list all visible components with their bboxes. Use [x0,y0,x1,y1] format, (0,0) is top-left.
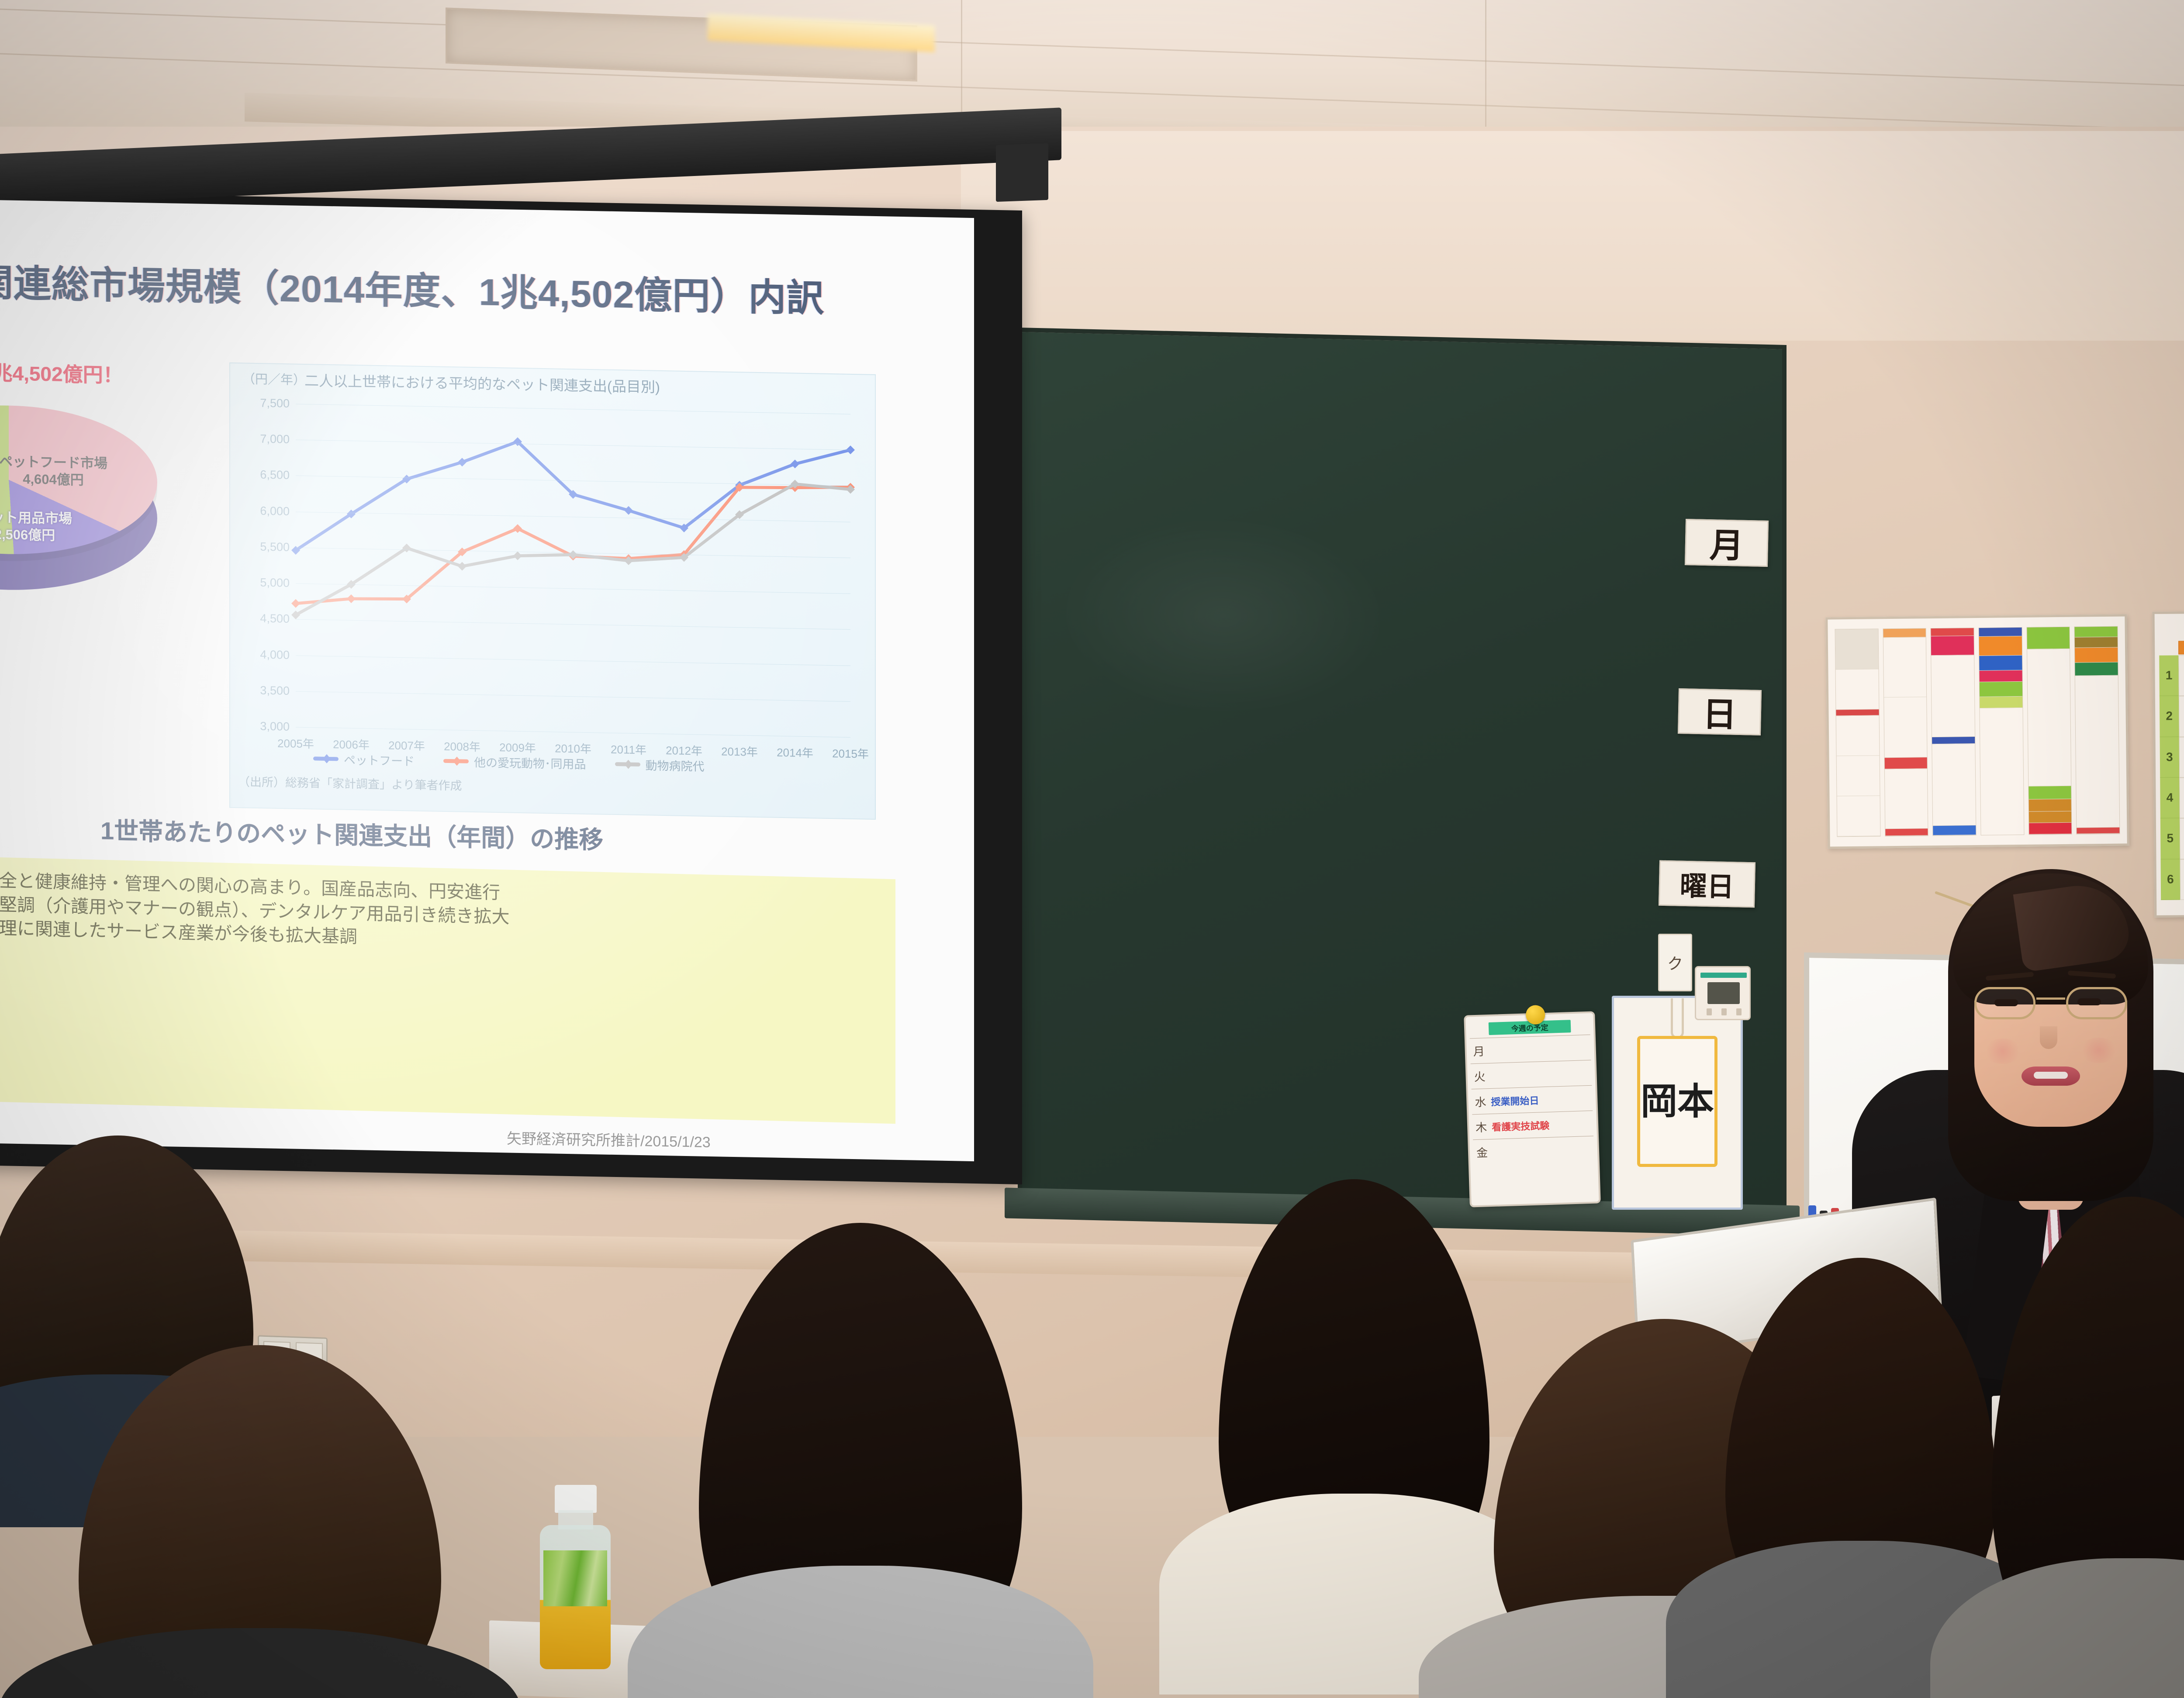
chart-y-tick-label: 6,500 [260,468,290,482]
week-day-label: 月 [1470,1042,1488,1059]
chart-y-unit: （円／年） [242,369,306,388]
chart-y-tick-label: 6,000 [260,504,290,518]
slide-title: ット関連総市場規模（2014年度、1兆4,502億円）内訳 [0,251,939,324]
weekly-schedule-board[interactable]: 今週の予定 月 火 水 授業開始日 木 看護実技試験 金 [1464,1011,1601,1207]
chart-legend-item: ペットフード [313,750,415,769]
chart-x-tick-label: 2008年 [444,738,480,755]
week-row: 木 看護実技試験 [1472,1111,1593,1140]
legend-swatch-icon [615,762,640,766]
legend-label: ペットフード [344,751,415,769]
timetable-title: ☆2Aカリ [2159,625,2184,638]
chart-data-point [458,562,467,570]
pie-slice-name: ペットフード市場 [0,454,107,471]
audience-head [699,1223,1022,1698]
timetable-day-header: 月 [2178,641,2184,655]
period-label: 4 [2160,777,2180,818]
day-card-day: 日 [1678,688,1762,735]
teacher-nameplate: 岡本 [1637,1036,1717,1167]
hook-tag: ク [1658,934,1692,991]
chart-data-point [569,550,577,559]
week-day-label: 水 [1472,1093,1489,1110]
glasses-bridge [2036,997,2065,1000]
projector-screen: ット関連総市場規模（2014年度、1兆4,502億円）内訳 市場規模 1兆4,5… [0,200,974,1161]
chart-data-point [791,459,799,468]
presentation-slide: ット関連総市場規模（2014年度、1兆4,502億円）内訳 市場規模 1兆4,5… [0,200,974,1161]
week-day-label: 木 [1472,1118,1490,1135]
presenter-cheek-right [2079,1038,2118,1063]
chart-series-svg [296,404,850,737]
chart-plot-area: 7,5007,0006,5006,0005,5005,0004,5004,000… [296,404,850,737]
presenter-teeth [2034,1072,2068,1079]
timetable-header-row: 月 火 [2159,640,2184,655]
day-card-label: 曜日 [1679,864,1735,904]
audience-head [1725,1258,1996,1651]
panel-status-strip [1700,973,1747,978]
week-row: 水 授業開始日 [1471,1085,1593,1115]
slide-subcaption: 1世帯あたりのペット関連支出（年間）の推移 [100,811,843,860]
poster-column [1979,627,2025,835]
presenter-nose [2040,1026,2057,1049]
chart-data-point [624,506,633,515]
chart-y-tick-label: 4,000 [260,648,290,662]
chart-x-tick-label: 2006年 [333,735,370,752]
day-card-label: 月 [1709,518,1744,568]
screen-roller-cap [996,143,1048,202]
legend-swatch-icon [313,756,339,761]
audience-head [1992,1197,2184,1698]
schedule-chart-poster [1825,614,2129,849]
chart-x-tick-label: 2011年 [611,741,646,758]
pie-slice-label-petgoods: ペット用品市場 2,506億円 [0,509,72,544]
audience-head [79,1345,441,1698]
summary-text-block: トフード市場 に対する安心・安全と健康維持・管理への関心の高まり。国産品志向、円… [0,853,895,1124]
chart-data-point [513,551,522,560]
presenter-eye-right [2077,998,2101,1005]
chart-y-tick-label: 7,000 [260,432,290,446]
day-card-month: 月 [1685,519,1769,567]
chart-data-point [347,594,356,603]
day-card-weekday: 曜日 [1659,860,1755,908]
presenter-eye-left [1994,999,2018,1006]
week-row: 火 [1471,1060,1592,1089]
pie-slice-label-petfood: ペットフード市場 4,604億円 [0,453,107,489]
poster-column [2026,627,2072,835]
legend-label: 動物病院代 [646,756,705,774]
chart-y-tick-label: 4,500 [260,612,290,626]
classroom-scene: 月 日 曜日 今週の予定 月 火 水 授業開始日 木 看護実技試験 金 [0,0,2184,1698]
pie-chart: ペットフード市場 4,604億円 ペット用品市場 2,506億円 産業市場 91… [0,390,192,640]
week-row: 金 [1473,1136,1594,1165]
chart-x-tick-label: 2015年 [832,745,869,762]
week-event-text [1488,1047,1591,1050]
bottle-cap [555,1485,597,1513]
chart-y-tick-label: 5,000 [260,576,290,590]
chart-y-tick-label: 7,500 [260,397,290,411]
pie-slice-value: 4,604億円 [23,471,84,488]
week-day-label: 火 [1471,1068,1489,1084]
line-chart: （円／年） 二人以上世帯における平均的なペット関連支出(品目別) 7,5007,… [229,362,876,820]
chart-x-tick-label: 2012年 [666,742,702,759]
hook-icon [1671,998,1684,1039]
chart-x-tick-label: 2005年 [277,735,314,752]
drink-bottle[interactable] [534,1485,617,1668]
chart-y-tick-label: 5,500 [260,540,290,554]
chart-x-tick-label: 2014年 [777,744,813,761]
chart-legend-item: 他の愛玩動物･同用品 [443,752,586,772]
upper-wall-band [961,131,2184,341]
audience-head [1219,1179,1489,1616]
chart-legend-item: 動物病院代 [615,756,705,774]
week-event-text: 授業開始日 [1489,1091,1593,1108]
chart-heading: 二人以上世帯における平均的なペット関連支出(品目別) [304,369,660,397]
chart-x-tick-label: 2009年 [499,739,536,756]
chalkboard-glare [1057,511,1389,720]
period-label: 3 [2160,737,2180,778]
wall-control-panel[interactable] [1695,966,1751,1020]
panel-display [1707,982,1740,1004]
pie-slice-value: 2,506億円 [0,527,55,543]
poster-column [1883,628,1928,836]
week-row: 月 [1470,1035,1591,1064]
panel-button[interactable] [1736,1008,1742,1015]
chart-data-point [458,458,467,466]
legend-swatch-icon [443,759,469,763]
poster-grid [1835,626,2120,837]
panel-button[interactable] [1707,1008,1712,1015]
chart-data-point [291,599,300,608]
chart-y-tick-label: 3,500 [260,683,290,697]
period-label: 2 [2160,696,2179,737]
poster-column [1835,628,1881,837]
poster-column [1931,628,1977,836]
bottle-label [543,1550,607,1606]
week-day-label: 金 [1473,1144,1491,1160]
slide-footer-credit: 矢野経済研究所推計/2015/1/23 [507,1126,711,1152]
week-event-text [1491,1149,1594,1152]
poster-column [2074,626,2120,835]
chart-x-tick-label: 2013年 [721,742,758,759]
legend-label: 他の愛玩動物･同用品 [474,753,586,772]
teacher-name-text: 岡本 [1641,1083,1714,1120]
period-label: 1 [2159,655,2179,696]
chart-y-tick-label: 3,000 [260,720,290,734]
week-event-text: 看護実技試験 [1490,1116,1593,1133]
day-card-label: 日 [1702,687,1737,737]
panel-button[interactable] [1721,1008,1727,1015]
presenter-cheek-left [1983,1039,2022,1064]
chart-x-tick-label: 2010年 [555,739,591,756]
pie-slice-name: ペット用品市場 [0,509,72,526]
chart-x-tick-label: 2007年 [388,737,425,754]
week-event-text [1489,1073,1592,1076]
